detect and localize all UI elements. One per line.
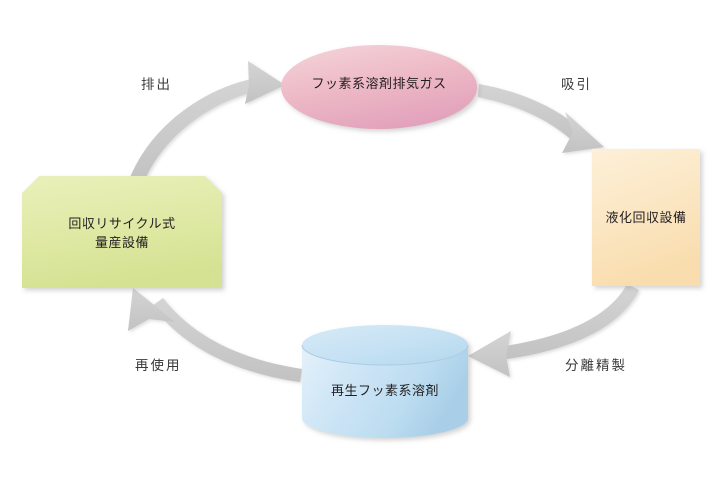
node-recycle-plant — [22, 176, 222, 288]
arrow-suction — [478, 84, 604, 153]
node-regenerated-solvent — [302, 325, 468, 438]
edge-label-suction: 吸引 — [561, 73, 592, 93]
node-liquefaction — [592, 149, 700, 286]
edge-label-emission: 排出 — [141, 73, 172, 93]
edge-label-reuse: 再使用 — [135, 354, 182, 374]
diagram-canvas — [0, 0, 720, 480]
edge-label-separation: 分離精製 — [565, 354, 627, 374]
node-exhaust-gas — [281, 45, 477, 129]
recycling-cycle-diagram: 回収リサイクル式 量産設備 フッ素系溶剤排気ガス 液化回収設備 再生フッ素系溶剤… — [0, 0, 720, 480]
